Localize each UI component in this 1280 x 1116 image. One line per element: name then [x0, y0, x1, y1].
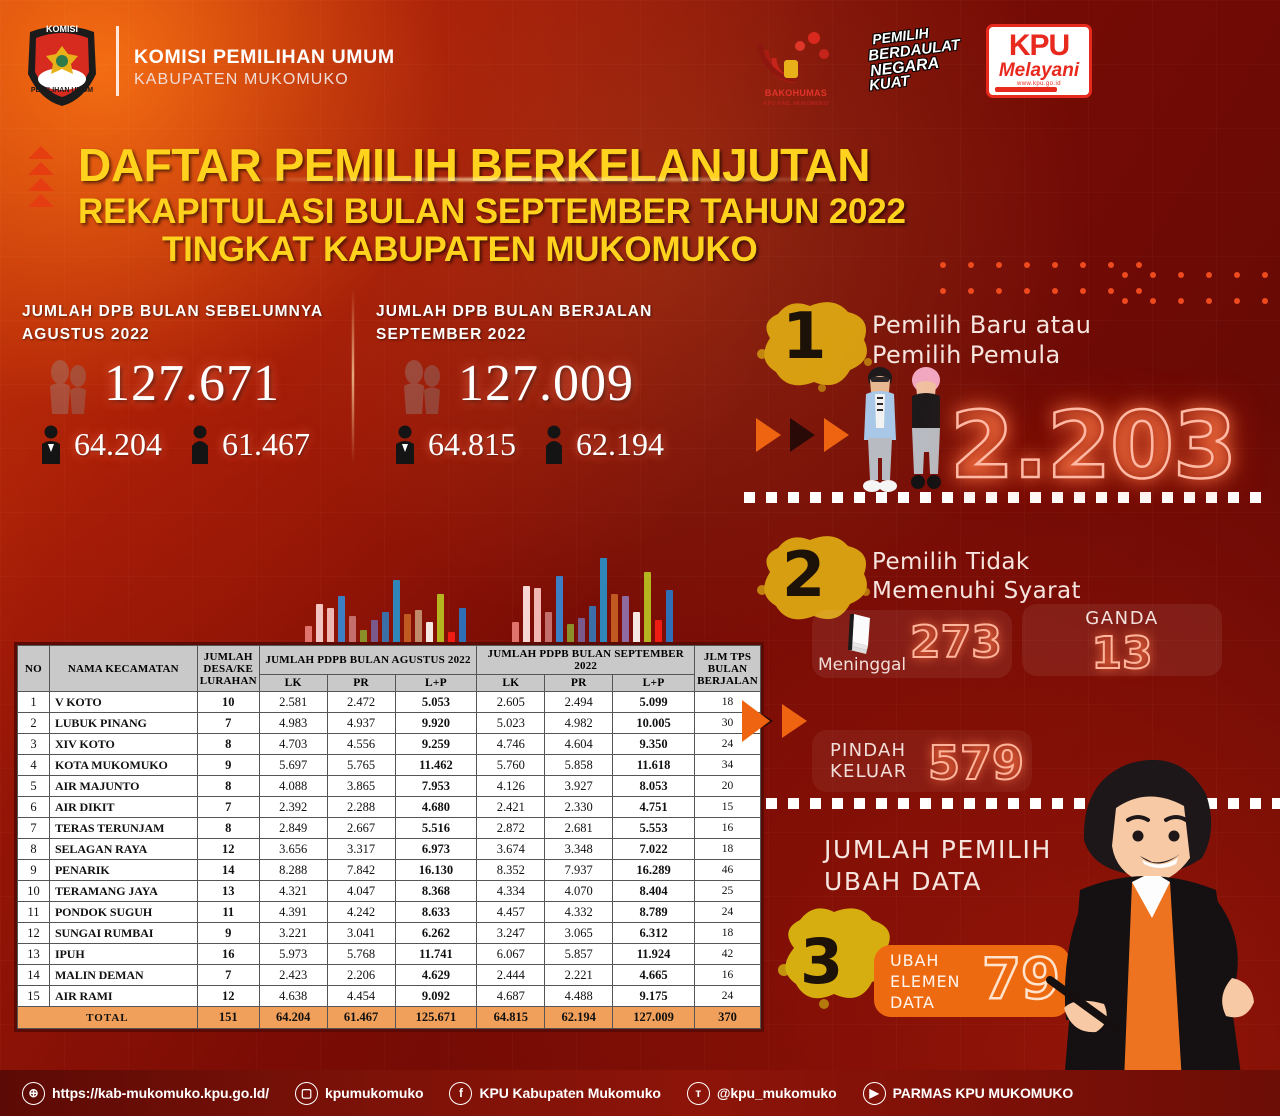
cell-ag_lk: 4.638	[259, 986, 327, 1007]
prev-total-value: 127.671	[104, 354, 280, 413]
dot	[996, 262, 1002, 268]
cell-ag_lk: 4.983	[259, 713, 327, 734]
table-row: 5AIR MAJUNTO84.0883.8657.9534.1263.9278.…	[18, 776, 761, 797]
dash	[898, 798, 909, 809]
footer-item-label: PARMAS KPU MUKOMUKO	[893, 1085, 1074, 1101]
cell-sp_lk: 6.067	[477, 944, 545, 965]
cell-tps: 42	[695, 944, 761, 965]
cell-sp_lk: 2.421	[477, 797, 545, 818]
section-3-title-line-1: JUMLAH PEMILIH	[824, 834, 1052, 866]
cell-ag_pr: 5.765	[327, 755, 395, 776]
dash	[920, 798, 931, 809]
cell-ag_lk: 2.423	[259, 965, 327, 986]
cell-no: 11	[18, 902, 50, 923]
triangle-right-icon	[742, 700, 770, 742]
meninggal-value: 273	[910, 617, 1002, 668]
brand-divider	[116, 26, 119, 96]
dot	[1080, 262, 1086, 268]
cell-sp_pr: 2.221	[545, 965, 613, 986]
dot	[1080, 288, 1086, 294]
cell-ag_lp: 16.130	[395, 860, 477, 881]
prev-label-1: JUMLAH DPB BULAN SEBELUMNYA	[22, 300, 352, 323]
th-ag-lp: L+P	[395, 675, 477, 692]
dot	[1122, 272, 1128, 278]
facebook-icon[interactable]: f	[449, 1082, 472, 1105]
cell-no: 6	[18, 797, 50, 818]
ganda-label: GANDA	[1022, 608, 1222, 629]
cell-ag_lk: 8.288	[259, 860, 327, 881]
bakohumas-label: BAKOHUMAS	[756, 88, 836, 98]
cell-ag_pr: 4.454	[327, 986, 395, 1007]
triangle-right-icon	[756, 418, 781, 452]
cell-sp_lp: 5.553	[613, 818, 695, 839]
cell-sp_lp: 8.053	[613, 776, 695, 797]
dot	[1052, 262, 1058, 268]
cell-sp_lk: 4.126	[477, 776, 545, 797]
cell-sp_lp: 8.404	[613, 881, 695, 902]
table-row: 7TERAS TERUNJAM82.8492.6675.5162.8722.68…	[18, 818, 761, 839]
slogan-line-4: KUAT	[868, 73, 910, 95]
section-3-title: JUMLAH PEMILIH UBAH DATA	[824, 834, 1052, 898]
cell-ag_lp: 11.462	[395, 755, 477, 776]
dot	[1136, 262, 1142, 268]
table-row: 14MALIN DEMAN72.4232.2064.6292.4442.2214…	[18, 965, 761, 986]
pindah-label-line-1: PINDAH	[830, 740, 908, 761]
table-row: 15AIR RAMI124.6384.4549.0924.6874.4889.1…	[18, 986, 761, 1007]
dot	[1178, 298, 1184, 304]
cell-name: AIR MAJUNTO	[49, 776, 197, 797]
table-header-row-1: NO NAMA KECAMATAN JUMLAH DESA/KE LURAHAN…	[18, 646, 761, 675]
svg-text:PEMILIHAN UMUM: PEMILIHAN UMUM	[31, 87, 93, 94]
total-desa: 151	[197, 1007, 259, 1029]
cell-tps: 46	[695, 860, 761, 881]
cell-name: PENARIK	[49, 860, 197, 881]
cell-ag_lk: 5.973	[259, 944, 327, 965]
dot	[1234, 272, 1240, 278]
cell-sp_lp: 6.312	[613, 923, 695, 944]
chart-bar	[644, 572, 651, 652]
cell-ag_pr: 4.937	[327, 713, 395, 734]
section-1-title-line-1: Pemilih Baru atau	[872, 310, 1091, 340]
cur-total-value: 127.009	[458, 354, 634, 413]
bakohumas-logo: BAKOHUMAS KPU KAB. MUKOMUKO	[756, 22, 836, 100]
dash	[1008, 798, 1019, 809]
chevron-up-icon	[28, 146, 68, 210]
cell-tps: 24	[695, 902, 761, 923]
section-2-title-line-1: Pemilih Tidak	[872, 548, 1081, 577]
cell-sp_lk: 3.247	[477, 923, 545, 944]
table-row: 10TERAMANG JAYA134.3214.0478.3684.3344.0…	[18, 881, 761, 902]
dot	[1262, 272, 1268, 278]
th-kecamatan: NAMA KECAMATAN	[49, 646, 197, 692]
cell-sp_lp: 4.665	[613, 965, 695, 986]
title-glow-line	[240, 178, 860, 181]
section-3-title-line-2: UBAH DATA	[824, 866, 1052, 898]
cell-sp_lk: 4.687	[477, 986, 545, 1007]
dash	[810, 492, 821, 503]
cell-sp_lp: 5.099	[613, 692, 695, 713]
female-icon	[190, 424, 210, 464]
cell-sp_lp: 9.175	[613, 986, 695, 1007]
title-line-2: REKAPITULASI BULAN SEPTEMBER TAHUN 2022	[78, 192, 906, 232]
th-agustus: JUMLAH PDPB BULAN AGUSTUS 2022	[259, 646, 477, 675]
cell-desa: 12	[197, 839, 259, 860]
cell-sp_pr: 2.681	[545, 818, 613, 839]
th-ag-pr: PR	[327, 675, 395, 692]
dash	[832, 798, 843, 809]
cell-ag_pr: 2.288	[327, 797, 395, 818]
total-ag-pr: 61.467	[327, 1007, 395, 1029]
footer-item-label: KPU Kabupaten Mukomuko	[479, 1085, 660, 1101]
cell-name: IPUH	[49, 944, 197, 965]
female-icon	[544, 424, 564, 464]
globe-icon[interactable]: ⊕	[22, 1082, 45, 1105]
cell-desa: 8	[197, 734, 259, 755]
footer-item[interactable]: fKPU Kabupaten Mukomuko	[449, 1082, 660, 1105]
cell-desa: 8	[197, 818, 259, 839]
summary-current-month: JUMLAH DPB BULAN BERJALAN SEPTEMBER 2022…	[376, 300, 706, 468]
cell-ag_lk: 5.697	[259, 755, 327, 776]
svg-text:KOMISI: KOMISI	[46, 24, 78, 34]
ubah-elemen-data-label: UBAH ELEMEN DATA	[890, 950, 960, 1013]
slogan-logo: PEMILIH BERDAULAT NEGARA KUAT	[866, 26, 976, 98]
th-september: JUMLAH PDPB BULAN SEPTEMBER 2022	[477, 646, 695, 675]
th-ag-lk: LK	[259, 675, 327, 692]
cell-desa: 8	[197, 776, 259, 797]
cell-ag_lk: 4.321	[259, 881, 327, 902]
cell-ag_lp: 5.053	[395, 692, 477, 713]
melayani-wordmark: Melayani	[989, 61, 1089, 81]
cell-sp_pr: 3.065	[545, 923, 613, 944]
cell-sp_pr: 4.982	[545, 713, 613, 734]
cell-desa: 12	[197, 986, 259, 1007]
dash	[876, 798, 887, 809]
cell-no: 10	[18, 881, 50, 902]
total-sp-lp: 127.009	[613, 1007, 695, 1029]
decorative-bar-chart-left	[305, 560, 466, 652]
kpu-wordmark: KPU	[989, 30, 1089, 62]
cell-ag_lp: 8.368	[395, 881, 477, 902]
dot	[1150, 298, 1156, 304]
cell-ag_pr: 4.242	[327, 902, 395, 923]
cur-label-1: JUMLAH DPB BULAN BERJALAN	[376, 300, 706, 323]
cell-ag_lp: 9.920	[395, 713, 477, 734]
table-row: 9PENARIK148.2887.84216.1308.3527.93716.2…	[18, 860, 761, 881]
cell-ag_lk: 3.221	[259, 923, 327, 944]
section-2-title-line-2: Memenuhi Syarat	[872, 577, 1081, 606]
th-no: NO	[18, 646, 50, 692]
youtube-icon[interactable]: ▶	[863, 1082, 886, 1105]
cell-no: 8	[18, 839, 50, 860]
dot	[968, 288, 974, 294]
triangle-right-icon	[782, 704, 807, 738]
arrow-group-1	[756, 418, 849, 452]
kpu-seal-icon: KOMISI PEMILIHAN UMUM	[18, 16, 106, 108]
cell-no: 4	[18, 755, 50, 776]
cell-sp_lp: 10.005	[613, 713, 695, 734]
cell-sp_pr: 4.070	[545, 881, 613, 902]
table-row: 6AIR DIKIT72.3922.2884.6802.4212.3304.75…	[18, 797, 761, 818]
cur-female-value: 62.194	[576, 426, 664, 463]
dash	[766, 492, 777, 503]
table-row: 2LUBUK PINANG74.9834.9379.9205.0234.9821…	[18, 713, 761, 734]
total-sp-pr: 62.194	[545, 1007, 613, 1029]
cell-sp_lk: 2.444	[477, 965, 545, 986]
decorative-bar-chart-right	[512, 545, 673, 652]
cell-ag_pr: 2.472	[327, 692, 395, 713]
dash	[854, 798, 865, 809]
cell-tps: 15	[695, 797, 761, 818]
recap-table: NO NAMA KECAMATAN JUMLAH DESA/KE LURAHAN…	[14, 642, 764, 1032]
cell-sp_lk: 3.674	[477, 839, 545, 860]
dash	[810, 798, 821, 809]
cur-label-2: SEPTEMBER 2022	[376, 323, 706, 346]
cell-ag_lp: 11.741	[395, 944, 477, 965]
footer-item[interactable]: ⊕https://kab-mukomuko.kpu.go.ld/	[22, 1082, 269, 1105]
cell-ag_pr: 5.768	[327, 944, 395, 965]
cell-sp_pr: 4.488	[545, 986, 613, 1007]
table-row: 11PONDOK SUGUH114.3914.2428.6334.4574.33…	[18, 902, 761, 923]
cell-desa: 7	[197, 713, 259, 734]
ganda-value: 13	[1022, 628, 1222, 679]
table-body: 1V KOTO102.5812.4725.0532.6052.4945.0991…	[18, 692, 761, 1007]
section-2-title: Pemilih Tidak Memenuhi Syarat	[872, 548, 1081, 606]
twitter-icon[interactable]: ᴛ	[687, 1082, 710, 1105]
cell-sp_lk: 5.023	[477, 713, 545, 734]
cell-name: KOTA MUKOMUKO	[49, 755, 197, 776]
footer-bar: ⊕https://kab-mukomuko.kpu.go.ld/▢kpumuko…	[0, 1070, 1280, 1116]
footer-item[interactable]: ▢kpumukomuko	[295, 1082, 423, 1105]
cell-sp_lp: 8.789	[613, 902, 695, 923]
cell-ag_lp: 7.953	[395, 776, 477, 797]
cell-name: TERAS TERUNJAM	[49, 818, 197, 839]
th-sp-lp: L+P	[613, 675, 695, 692]
section-1-value: 2.203	[950, 392, 1236, 499]
dash	[766, 798, 777, 809]
prev-female-value: 61.467	[222, 426, 310, 463]
dot	[1024, 262, 1030, 268]
total-ag-lk: 64.204	[259, 1007, 327, 1029]
recap-table-element: NO NAMA KECAMATAN JUMLAH DESA/KE LURAHAN…	[17, 645, 761, 1029]
cell-ag_lp: 4.680	[395, 797, 477, 818]
ubah-label-line-1: UBAH	[890, 950, 960, 971]
cell-no: 14	[18, 965, 50, 986]
cell-ag_pr: 3.865	[327, 776, 395, 797]
section-3-number: 3	[800, 925, 843, 998]
cell-no: 15	[18, 986, 50, 1007]
title-line-1: DAFTAR PEMILIH BERKELANJUTAN	[78, 138, 870, 192]
cell-name: SUNGAI RUMBAI	[49, 923, 197, 944]
dash	[744, 492, 755, 503]
dash	[788, 492, 799, 503]
table-row: 13IPUH165.9735.76811.7416.0675.85711.924…	[18, 944, 761, 965]
dot	[996, 288, 1002, 294]
title-line-3: TINGKAT KABUPATEN MUKOMUKO	[162, 230, 758, 270]
male-icon	[394, 424, 416, 464]
chart-bar	[556, 576, 563, 652]
footer-item[interactable]: ᴛ@kpu_mukomuko	[687, 1082, 837, 1105]
table-row: 1V KOTO102.5812.4725.0532.6052.4945.0991…	[18, 692, 761, 713]
section-1-title: Pemilih Baru atau Pemilih Pemula	[872, 310, 1091, 370]
cell-name: LUBUK PINANG	[49, 713, 197, 734]
people-group-icon	[38, 360, 98, 416]
cell-name: XIV KOTO	[49, 734, 197, 755]
ubah-label-line-2: ELEMEN	[890, 971, 960, 992]
total-ag-lp: 125.671	[395, 1007, 477, 1029]
cell-sp_pr: 4.604	[545, 734, 613, 755]
person-illustration	[1020, 690, 1280, 1082]
dot	[1206, 272, 1212, 278]
cell-sp_pr: 2.494	[545, 692, 613, 713]
total-tps: 370	[695, 1007, 761, 1029]
cell-tps: 18	[695, 923, 761, 944]
cell-desa: 9	[197, 755, 259, 776]
dash	[942, 798, 953, 809]
cell-sp_lp: 7.022	[613, 839, 695, 860]
total-sp-lk: 64.815	[477, 1007, 545, 1029]
cell-no: 3	[18, 734, 50, 755]
cell-name: AIR RAMI	[49, 986, 197, 1007]
pindah-label-line-2: KELUAR	[830, 761, 908, 782]
bakohumas-sub: KPU KAB. MUKOMUKO	[756, 101, 836, 107]
cell-ag_lp: 9.259	[395, 734, 477, 755]
summary-divider	[352, 288, 354, 464]
footer-item-label: @kpu_mukomuko	[717, 1085, 837, 1101]
chart-bar	[600, 558, 607, 652]
cell-ag_lk: 2.581	[259, 692, 327, 713]
prev-male-value: 64.204	[74, 426, 162, 463]
total-label: TOTAL	[18, 1007, 198, 1029]
cell-ag_pr: 7.842	[327, 860, 395, 881]
ubah-label-line-3: DATA	[890, 992, 960, 1013]
dot-grid-b	[1122, 272, 1280, 324]
summary-previous-month: JUMLAH DPB BULAN SEBELUMNYA AGUSTUS 2022…	[22, 300, 352, 468]
cell-ag_pr: 2.206	[327, 965, 395, 986]
cell-ag_lk: 3.656	[259, 839, 327, 860]
cell-tps: 16	[695, 818, 761, 839]
cell-tps: 20	[695, 776, 761, 797]
kpu-underline	[995, 87, 1057, 92]
cell-sp_lp: 11.924	[613, 944, 695, 965]
cell-no: 12	[18, 923, 50, 944]
footer-item-label: https://kab-mukomuko.kpu.go.ld/	[52, 1085, 269, 1101]
cell-name: PONDOK SUGUH	[49, 902, 197, 923]
cell-desa: 9	[197, 923, 259, 944]
cell-no: 13	[18, 944, 50, 965]
cell-tps: 25	[695, 881, 761, 902]
header-bar: KOMISI PEMILIHAN UMUM KOMISI PEMILIHAN U…	[0, 0, 1280, 118]
cell-desa: 7	[197, 797, 259, 818]
dot	[940, 262, 946, 268]
dot	[1206, 298, 1212, 304]
dot	[1122, 298, 1128, 304]
dot	[1052, 288, 1058, 294]
cell-desa: 13	[197, 881, 259, 902]
cell-ag_pr: 2.667	[327, 818, 395, 839]
cell-sp_pr: 3.927	[545, 776, 613, 797]
footer-item-label: kpumukomuko	[325, 1085, 423, 1101]
table-row: 8SELAGAN RAYA123.6563.3176.9733.6743.348…	[18, 839, 761, 860]
cell-ag_lp: 4.629	[395, 965, 477, 986]
cell-tps: 16	[695, 965, 761, 986]
dash	[1250, 492, 1261, 503]
org-name: KOMISI PEMILIHAN UMUM	[134, 45, 395, 69]
cell-desa: 16	[197, 944, 259, 965]
cell-desa: 11	[197, 902, 259, 923]
table-row: 12SUNGAI RUMBAI93.2213.0416.2623.2473.06…	[18, 923, 761, 944]
instagram-icon[interactable]: ▢	[295, 1082, 318, 1105]
pindah-keluar-value: 579	[928, 736, 1024, 790]
tombstone-icon	[846, 612, 876, 656]
prev-label-2: AGUSTUS 2022	[22, 323, 352, 346]
cell-name: TERAMANG JAYA	[49, 881, 197, 902]
male-icon	[40, 424, 62, 464]
table-row: 3XIV KOTO84.7034.5569.2594.7464.6049.350…	[18, 734, 761, 755]
cell-desa: 10	[197, 692, 259, 713]
cur-male-value: 64.815	[428, 426, 516, 463]
cell-tps: 34	[695, 755, 761, 776]
meninggal-label: Meninggal	[818, 655, 906, 675]
cell-ag_lk: 4.088	[259, 776, 327, 797]
dot	[1178, 272, 1184, 278]
cell-ag_lp: 9.092	[395, 986, 477, 1007]
cell-name: V KOTO	[49, 692, 197, 713]
cell-sp_lk: 5.760	[477, 755, 545, 776]
cell-ag_pr: 3.317	[327, 839, 395, 860]
pindah-keluar-label: PINDAH KELUAR	[830, 740, 908, 782]
cell-ag_lk: 4.391	[259, 902, 327, 923]
dash	[986, 798, 997, 809]
table-head: NO NAMA KECAMATAN JUMLAH DESA/KE LURAHAN…	[18, 646, 761, 692]
cell-sp_lk: 2.872	[477, 818, 545, 839]
cell-sp_pr: 3.348	[545, 839, 613, 860]
cell-ag_lk: 2.849	[259, 818, 327, 839]
th-tps: JLM TPS BULAN BERJALAN	[695, 646, 761, 692]
cell-ag_lp: 8.633	[395, 902, 477, 923]
section-1-number: 1	[782, 300, 827, 374]
cell-ag_lk: 4.703	[259, 734, 327, 755]
dash	[832, 492, 843, 503]
cell-no: 2	[18, 713, 50, 734]
cell-sp_pr: 4.332	[545, 902, 613, 923]
dash	[964, 798, 975, 809]
table-total-row: TOTAL 151 64.204 61.467 125.671 64.815 6…	[18, 1007, 761, 1029]
cell-sp_lk: 8.352	[477, 860, 545, 881]
dash	[788, 798, 799, 809]
cell-sp_lk: 4.746	[477, 734, 545, 755]
cell-sp_pr: 5.857	[545, 944, 613, 965]
cell-sp_pr: 7.937	[545, 860, 613, 881]
table-row: 4KOTA MUKOMUKO95.6975.76511.4625.7605.85…	[18, 755, 761, 776]
cell-sp_lp: 9.350	[613, 734, 695, 755]
cell-sp_lk: 4.334	[477, 881, 545, 902]
people-group-icon	[392, 360, 452, 416]
org-region: KABUPATEN MUKOMUKO	[134, 69, 395, 91]
footer-item[interactable]: ▶PARMAS KPU MUKOMUKO	[863, 1082, 1074, 1105]
cell-desa: 14	[197, 860, 259, 881]
cell-ag_lk: 2.392	[259, 797, 327, 818]
cell-ag_pr: 3.041	[327, 923, 395, 944]
cell-ag_pr: 4.556	[327, 734, 395, 755]
dot	[1234, 298, 1240, 304]
triangle-right-icon	[790, 418, 815, 452]
kpu-melayani-logo: KPU Melayani www.kpu.go.id	[986, 24, 1092, 98]
th-sp-pr: PR	[545, 675, 613, 692]
dot	[1108, 262, 1114, 268]
cell-ag_lp: 6.262	[395, 923, 477, 944]
cell-tps: 24	[695, 986, 761, 1007]
cell-no: 1	[18, 692, 50, 713]
